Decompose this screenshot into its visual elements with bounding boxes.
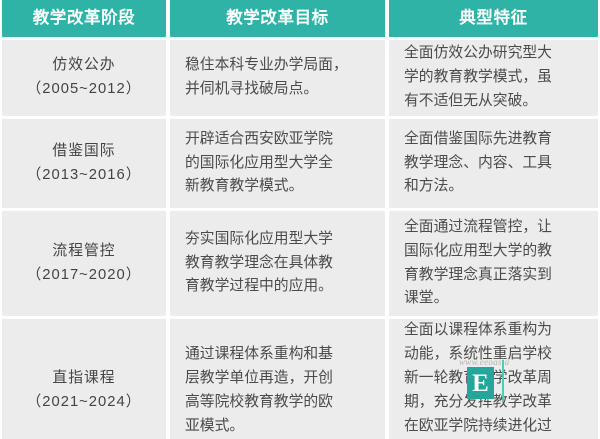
comparison-table: 教学改革阶段 教学改革目标 典型特征 仿效公办 （2005~2012） 稳住本科… [0, 0, 600, 439]
cell-stage: 仿效公办 （2005~2012） [2, 40, 166, 116]
table-row: 借鉴国际 （2013~2016） 开辟适合西安欧亚学院 的国际化应用型大学全 新… [0, 119, 600, 208]
cell-feature: 全面通过流程管控，让 国际化应用型大学的教 育教学理念真正落实到 课堂。 [389, 211, 598, 316]
stage-name: 流程管控 [52, 240, 115, 264]
table-body: 仿效公办 （2005~2012） 稳住本科专业办学局面， 并伺机寻找破局点。 全… [0, 37, 600, 439]
table-header-row: 教学改革阶段 教学改革目标 典型特征 [0, 0, 600, 37]
table-row: 直指课程 （2021~2024） 通过课程体系重构和基 层教学单位再造，开创 高… [0, 319, 600, 439]
cell-feature: 全面借鉴国际先进教育 教学理念、内容、工具 和方法。 [389, 119, 598, 208]
stage-name: 借鉴国际 [52, 140, 115, 164]
cell-feature: 全面仿效公办研究型大 学的教育教学模式，虽 有不适但无从突破。 [389, 40, 598, 116]
column-header-stage: 教学改革阶段 [2, 0, 166, 37]
stage-years: （2021~2024） [26, 391, 141, 415]
cell-stage: 流程管控 （2017~2020） [2, 211, 166, 316]
cell-stage: 借鉴国际 （2013~2016） [2, 119, 166, 208]
cell-stage: 直指课程 （2021~2024） [2, 319, 166, 439]
cell-goal: 开辟适合西安欧亚学院 的国际化应用型大学全 新教育教学模式。 [170, 119, 385, 208]
cell-goal: 通过课程体系重构和基 层教学单位再造，开创 高等院校教育教学的欧 亚模式。 [170, 319, 385, 439]
stage-years: （2017~2020） [26, 264, 141, 288]
column-header-goal: 教学改革目标 [170, 0, 385, 37]
stage-years: （2013~2016） [26, 164, 141, 188]
cell-feature: 全面以课程体系重构为 动能，系统性重启学校 新一轮教育教学改革周 期，充分发挥教… [389, 319, 598, 439]
stage-name: 直指课程 [52, 367, 115, 391]
table-row: 流程管控 （2017~2020） 夯实国际化应用型大学 教育教学理念在具体教 育… [0, 211, 600, 316]
cell-goal: 夯实国际化应用型大学 教育教学理念在具体教 育教学过程中的应用。 [170, 211, 385, 316]
column-header-feature: 典型特征 [389, 0, 598, 37]
stage-years: （2005~2012） [26, 78, 141, 102]
table-row: 仿效公办 （2005~2012） 稳住本科专业办学局面， 并伺机寻找破局点。 全… [0, 40, 600, 116]
stage-name: 仿效公办 [52, 54, 115, 78]
cell-goal: 稳住本科专业办学局面， 并伺机寻找破局点。 [170, 40, 385, 116]
